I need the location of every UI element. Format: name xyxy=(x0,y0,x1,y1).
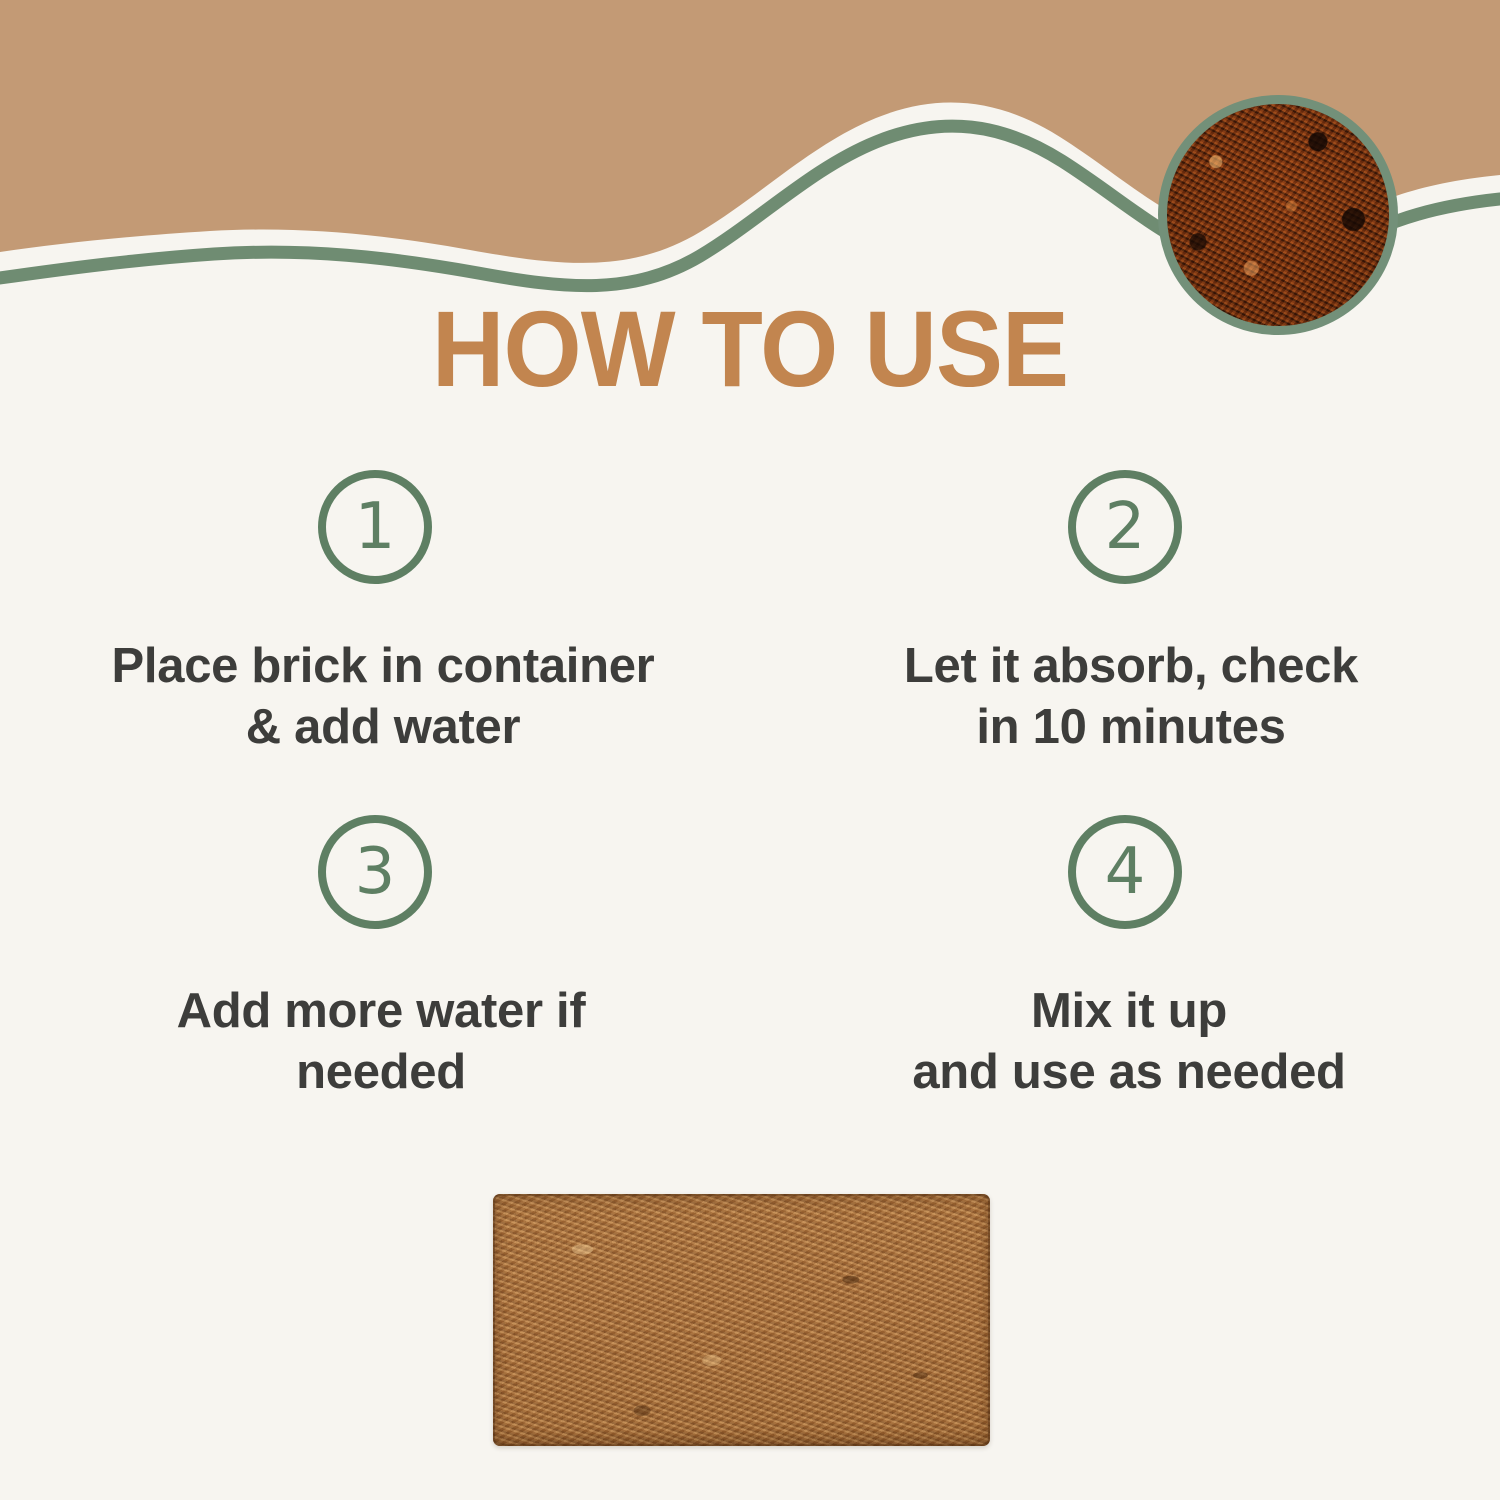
step-number-3: 3 xyxy=(355,840,396,904)
step-item-2: 2 Let it absorb, check in 10 minutes xyxy=(750,470,1500,815)
step-item-3: 3 Add more water if needed xyxy=(0,815,750,1160)
step-item-1: 1 Place brick in container & add water xyxy=(0,470,750,815)
step-number-badge-1: 1 xyxy=(318,470,432,584)
steps-grid: 1 Place brick in container & add water 2… xyxy=(0,470,1500,1160)
infographic-canvas: HOW TO USE 1 Place brick in container & … xyxy=(0,0,1500,1500)
coir-brick-photo xyxy=(493,1194,990,1446)
step-number-2: 2 xyxy=(1105,495,1146,559)
page-title: HOW TO USE xyxy=(53,292,1448,405)
step-item-4: 4 Mix it up and use as needed xyxy=(750,815,1500,1160)
step-number-badge-4: 4 xyxy=(1068,815,1182,929)
step-number-4: 4 xyxy=(1105,840,1146,904)
step-number-1: 1 xyxy=(355,495,396,559)
step-number-badge-2: 2 xyxy=(1068,470,1182,584)
step-number-badge-3: 3 xyxy=(318,815,432,929)
step-description-3: Add more water if needed xyxy=(177,981,586,1104)
step-description-1: Place brick in container & add water xyxy=(112,636,655,759)
step-description-4: Mix it up and use as needed xyxy=(912,981,1345,1104)
step-description-2: Let it absorb, check in 10 minutes xyxy=(904,636,1358,759)
